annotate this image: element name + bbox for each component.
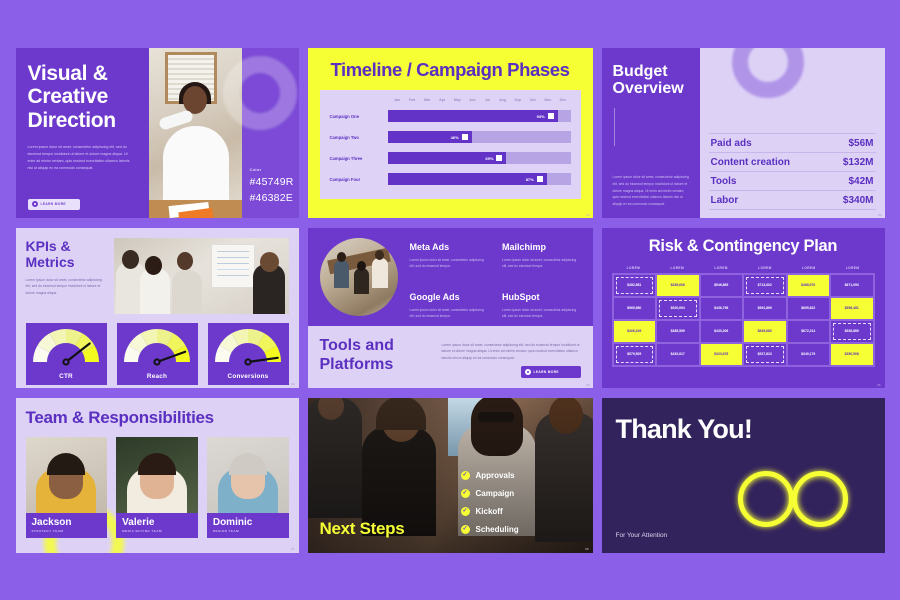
risk-cell[interactable]: $385,599 bbox=[656, 320, 700, 343]
risk-cell[interactable]: $382,981 bbox=[613, 274, 657, 297]
slide5-bottom-section: Tools and Platforms Lorem ipsum dolor si… bbox=[308, 326, 593, 388]
kpi-label: CTR bbox=[59, 373, 73, 380]
slide6-title: Risk & Contingency Plan bbox=[612, 237, 875, 256]
tool-item[interactable]: Mailchimp Lorem ipsum dolor sit amet, co… bbox=[502, 242, 581, 276]
bar-value-label: 46% bbox=[451, 135, 459, 140]
color-value-2: #46382E bbox=[250, 192, 294, 204]
tool-name: Meta Ads bbox=[410, 242, 489, 252]
campaign-label: Campaign One bbox=[324, 114, 388, 119]
drag-handle[interactable] bbox=[496, 155, 502, 161]
timeline-month-axis: JanFebMarAprMayJunJulAugSepOctNovDec bbox=[390, 98, 571, 102]
risk-cell[interactable]: $406,249 bbox=[613, 320, 657, 343]
person-head-decor bbox=[177, 252, 193, 270]
slide4-title: KPIs & Metrics bbox=[26, 238, 104, 270]
slide-risk-contingency-plan[interactable]: Risk & Contingency Plan LOREMLOREMLOREML… bbox=[602, 228, 885, 388]
slide9-subtitle: For Your Attention bbox=[616, 532, 668, 539]
risk-cell[interactable]: $579,505 bbox=[613, 343, 657, 366]
month-tick: Jan bbox=[390, 98, 405, 102]
risk-cell[interactable]: $965,980 bbox=[613, 297, 657, 320]
bar-value-label: 65% bbox=[485, 156, 493, 161]
kpi-label: Reach bbox=[147, 373, 167, 380]
month-tick: Apr bbox=[435, 98, 450, 102]
slide1-color-swatches: Color #45749R #46382E bbox=[250, 167, 294, 204]
timeline-row: Campaign Four 87% bbox=[324, 171, 571, 188]
month-tick: Sep bbox=[510, 98, 525, 102]
next-step-item[interactable]: ✓ Approvals bbox=[461, 471, 583, 480]
budget-row: Tools $42M bbox=[709, 171, 876, 190]
timeline-track: 93% bbox=[388, 110, 571, 122]
month-tick: Aug bbox=[495, 98, 510, 102]
gauge-icon bbox=[210, 328, 286, 373]
budget-table: Paid ads $56M Content creation $132M Too… bbox=[709, 133, 876, 210]
member-name: Jackson bbox=[32, 517, 102, 528]
risk-cell[interactable]: $527,823 bbox=[743, 343, 787, 366]
month-tick: Feb bbox=[405, 98, 420, 102]
timeline-bar[interactable]: 87% bbox=[388, 173, 547, 185]
ring-left-icon bbox=[738, 471, 794, 527]
risk-table-body: $382,981$289,606$546,865$713,602$468,970… bbox=[612, 273, 875, 367]
risk-cell[interactable]: $436,798 bbox=[700, 297, 744, 320]
month-tick: Jun bbox=[465, 98, 480, 102]
campaign-label: Campaign Four bbox=[324, 177, 388, 182]
risk-cell[interactable]: $936,889 bbox=[830, 320, 874, 343]
risk-table-header: LOREMLOREMLOREMLOREMLOREMLOREM bbox=[612, 264, 875, 273]
risk-column-header: LOREM bbox=[743, 264, 787, 273]
member-caption: Dominic DESIGN TEAM bbox=[207, 513, 289, 538]
month-tick: Mar bbox=[420, 98, 435, 102]
check-icon: ✓ bbox=[461, 507, 470, 516]
member-role: STRATEGY TEAM bbox=[32, 529, 102, 533]
slide-timeline-campaign-phases[interactable]: Timeline / Campaign Phases JanFebMarAprM… bbox=[308, 48, 593, 218]
kpi-gauge-cards: CTR Reach Conversions bbox=[26, 323, 289, 385]
budget-row: Labor $340M bbox=[709, 190, 876, 210]
tool-item[interactable]: HubSpot Lorem ipsum dolor sit amet, cons… bbox=[502, 292, 581, 326]
plus-circle-icon bbox=[32, 201, 38, 207]
next-step-label: Scheduling bbox=[476, 525, 519, 534]
risk-cell[interactable]: $323,678 bbox=[700, 343, 744, 366]
timeline-row: Campaign One 93% bbox=[324, 108, 571, 125]
slide1-body-text: Lorem ipsum dolor sit amet, consectetur … bbox=[28, 144, 130, 171]
person-head-decor bbox=[183, 86, 207, 114]
slide8-title: Next Steps bbox=[320, 519, 405, 539]
person-head-decor bbox=[122, 250, 139, 269]
risk-cell[interactable]: $956,481 bbox=[830, 297, 874, 320]
tool-description: Lorem ipsum dolor sit amet, consectetur … bbox=[410, 307, 489, 320]
slide1-right-panel: Color #45749R #46382E bbox=[242, 48, 299, 218]
next-step-label: Kickoff bbox=[476, 507, 503, 516]
slide4-photo bbox=[114, 238, 289, 314]
month-tick: Oct bbox=[525, 98, 540, 102]
team-member-card[interactable]: Jackson STRATEGY TEAM bbox=[26, 437, 108, 538]
tool-item[interactable]: Meta Ads Lorem ipsum dolor sit amet, con… bbox=[410, 242, 489, 276]
risk-cell[interactable]: $713,602 bbox=[743, 274, 787, 297]
risk-cell[interactable]: $695,822 bbox=[787, 297, 831, 320]
slide5-top-section: Meta Ads Lorem ipsum dolor sit amet, con… bbox=[308, 228, 593, 326]
slide-thank-you[interactable]: Thank You! For Your Attention bbox=[602, 398, 885, 553]
page-number: 04 bbox=[291, 382, 294, 386]
month-tick: Nov bbox=[540, 98, 555, 102]
risk-column-header: LOREM bbox=[655, 264, 699, 273]
risk-cell[interactable]: $991,869 bbox=[743, 297, 787, 320]
learn-more-label: LEARN MORE bbox=[41, 202, 66, 206]
timeline-bars: Campaign One 93% Campaign Two 46% Campai… bbox=[324, 108, 571, 188]
slide5-circular-photo bbox=[320, 238, 398, 316]
budget-item-amount: $340M bbox=[843, 195, 874, 206]
page-number: 06 bbox=[877, 383, 880, 387]
slide-deck: Visual & Creative Direction Lorem ipsum … bbox=[0, 0, 900, 600]
slide4-header-row: KPIs & Metrics Lorem ipsum dolor sit ame… bbox=[26, 238, 289, 314]
month-tick: Jul bbox=[480, 98, 495, 102]
plus-circle-icon bbox=[525, 369, 531, 375]
drag-handle[interactable] bbox=[462, 134, 468, 140]
risk-cell[interactable]: $845,680 bbox=[743, 320, 787, 343]
next-step-label: Approvals bbox=[476, 471, 515, 480]
campaign-label: Campaign Two bbox=[324, 135, 388, 140]
kpi-card[interactable]: Conversions bbox=[208, 323, 289, 385]
budget-item-name: Content creation bbox=[711, 157, 790, 168]
budget-row: Content creation $132M bbox=[709, 152, 876, 171]
budget-row: Paid ads $56M bbox=[709, 133, 876, 152]
risk-column-header: LOREM bbox=[612, 264, 656, 273]
learn-more-button[interactable]: LEARN MORE bbox=[28, 199, 80, 210]
tools-grid: Meta Ads Lorem ipsum dolor sit amet, con… bbox=[410, 238, 581, 326]
person-head-decor bbox=[260, 252, 279, 272]
slide4-body-text: Lorem ipsum dolor sit amet, consectetur … bbox=[26, 277, 104, 297]
next-step-item[interactable]: ✓ Campaign bbox=[461, 489, 583, 498]
risk-cell[interactable]: $671,093 bbox=[830, 274, 874, 297]
next-steps-list: ✓ Approvals ✓ Campaign ✓ Kickoff ✓ Sched… bbox=[461, 471, 583, 543]
timeline-track: 87% bbox=[388, 173, 571, 185]
slide7-title: Team & Responsibilities bbox=[26, 408, 289, 428]
slide-next-steps[interactable]: Next Steps ✓ Approvals ✓ Campaign ✓ Kick… bbox=[308, 398, 593, 553]
learn-more-button[interactable]: LEARN MORE bbox=[521, 366, 581, 378]
member-caption: Jackson STRATEGY TEAM bbox=[26, 513, 108, 538]
slide3-title: Budget Overview bbox=[613, 63, 690, 99]
tool-description: Lorem ipsum dolor sit amet, consectetur … bbox=[502, 257, 581, 270]
timeline-row: Campaign Two 46% bbox=[324, 129, 571, 146]
tool-name: Google Ads bbox=[410, 292, 489, 302]
month-tick: May bbox=[450, 98, 465, 102]
slide3-body-text: Lorem ipsum dolor sit amet, consectetur … bbox=[613, 174, 690, 207]
budget-item-name: Paid ads bbox=[711, 138, 752, 149]
member-role: MEDIA BUYING TEAM bbox=[122, 529, 192, 533]
slide-visual-creative-direction[interactable]: Visual & Creative Direction Lorem ipsum … bbox=[16, 48, 299, 218]
color-value-1: #45749R bbox=[250, 176, 294, 188]
slide1-left-panel: Visual & Creative Direction Lorem ipsum … bbox=[16, 48, 149, 218]
timeline-chart: JanFebMarAprMayJunJulAugSepOctNovDec Cam… bbox=[320, 90, 581, 199]
slide4-text-block: KPIs & Metrics Lorem ipsum dolor sit ame… bbox=[26, 238, 104, 314]
member-caption: Valerie MEDIA BUYING TEAM bbox=[116, 513, 198, 538]
check-icon: ✓ bbox=[461, 489, 470, 498]
kpi-card[interactable]: Reach bbox=[117, 323, 198, 385]
drag-handle[interactable] bbox=[548, 113, 554, 119]
page-number: 05 bbox=[586, 383, 589, 387]
budget-item-name: Tools bbox=[711, 176, 737, 187]
risk-cell[interactable]: $289,606 bbox=[656, 274, 700, 297]
campaign-label: Campaign Three bbox=[324, 156, 388, 161]
ring-right-icon bbox=[792, 471, 848, 527]
check-icon: ✓ bbox=[461, 525, 470, 534]
risk-column-header: LOREM bbox=[831, 264, 875, 273]
slide3-right-panel: Paid ads $56M Content creation $132M Too… bbox=[700, 48, 885, 218]
timeline-bar[interactable]: 93% bbox=[388, 110, 558, 122]
page-number: 07 bbox=[291, 547, 294, 551]
budget-item-amount: $132M bbox=[843, 157, 874, 168]
whiteboard-decor bbox=[211, 244, 255, 288]
risk-cell[interactable]: $920,694 bbox=[656, 297, 700, 320]
check-icon: ✓ bbox=[461, 471, 470, 480]
person-head-decor bbox=[145, 256, 162, 275]
member-name: Valerie bbox=[122, 517, 192, 528]
risk-cell[interactable]: $350,508 bbox=[830, 343, 874, 366]
budget-item-amount: $56M bbox=[848, 138, 873, 149]
kpi-label: Conversions bbox=[228, 373, 269, 380]
next-step-item[interactable]: ✓ Scheduling bbox=[461, 525, 583, 534]
learn-more-label: LEARN MORE bbox=[534, 370, 559, 374]
tool-item[interactable]: Google Ads Lorem ipsum dolor sit amet, c… bbox=[410, 292, 489, 326]
member-name: Dominic bbox=[213, 517, 283, 528]
member-role: DESIGN TEAM bbox=[213, 529, 283, 533]
timeline-bar[interactable]: 46% bbox=[388, 131, 472, 143]
slide-tools-and-platforms[interactable]: Meta Ads Lorem ipsum dolor sit amet, con… bbox=[308, 228, 593, 388]
ring-decor-icon bbox=[732, 48, 804, 98]
tool-name: HubSpot bbox=[502, 292, 581, 302]
slide9-title: Thank You! bbox=[616, 414, 753, 445]
tool-description: Lorem ipsum dolor sit amet, consectetur … bbox=[410, 257, 489, 270]
kpi-card[interactable]: CTR bbox=[26, 323, 107, 385]
risk-cell[interactable]: $452,617 bbox=[656, 343, 700, 366]
slide2-title: Timeline / Campaign Phases bbox=[320, 59, 581, 81]
slide1-title: Visual & Creative Direction bbox=[28, 62, 139, 133]
divider bbox=[614, 108, 615, 146]
team-member-card[interactable]: Valerie MEDIA BUYING TEAM bbox=[116, 437, 198, 538]
risk-cell[interactable]: $546,865 bbox=[700, 274, 744, 297]
timeline-track: 46% bbox=[388, 131, 571, 143]
risk-table: LOREMLOREMLOREMLOREMLOREMLOREM $382,981$… bbox=[612, 264, 875, 367]
risk-cell[interactable]: $349,179 bbox=[787, 343, 831, 366]
drag-handle[interactable] bbox=[537, 176, 543, 182]
bar-value-label: 93% bbox=[537, 114, 545, 119]
month-tick: Dec bbox=[555, 98, 570, 102]
ring-decor-icon bbox=[223, 56, 297, 130]
gauge-icon bbox=[119, 328, 195, 373]
slide3-left-panel: Budget Overview Lorem ipsum dolor sit am… bbox=[602, 48, 700, 218]
budget-item-amount: $42M bbox=[848, 176, 873, 187]
timeline-track: 65% bbox=[388, 152, 571, 164]
risk-column-header: LOREM bbox=[699, 264, 743, 273]
next-step-label: Campaign bbox=[476, 489, 515, 498]
page-number: 08 bbox=[585, 547, 588, 551]
risk-cell[interactable]: $672,214 bbox=[787, 320, 831, 343]
tool-description: Lorem ipsum dolor sit amet, consectetur … bbox=[502, 307, 581, 320]
slide-budget-overview[interactable]: Budget Overview Lorem ipsum dolor sit am… bbox=[602, 48, 885, 218]
person-decor bbox=[172, 270, 202, 314]
slide-team-responsibilities[interactable]: Team & Responsibilities Jackson STRATEGY… bbox=[16, 398, 299, 553]
timeline-row: Campaign Three 65% bbox=[324, 150, 571, 167]
next-step-item[interactable]: ✓ Kickoff bbox=[461, 507, 583, 516]
color-label: Color bbox=[250, 167, 294, 172]
budget-item-name: Labor bbox=[711, 195, 739, 206]
gauge-icon bbox=[28, 328, 104, 373]
team-member-cards: Jackson STRATEGY TEAM Valerie MEDIA BUYI… bbox=[26, 437, 289, 538]
bar-value-label: 87% bbox=[526, 177, 534, 182]
timeline-bar[interactable]: 65% bbox=[388, 152, 507, 164]
slide-kpis-metrics[interactable]: KPIs & Metrics Lorem ipsum dolor sit ame… bbox=[16, 228, 299, 388]
team-member-card[interactable]: Dominic DESIGN TEAM bbox=[207, 437, 289, 538]
page-number: 02 bbox=[586, 213, 589, 217]
risk-column-header: LOREM bbox=[787, 264, 831, 273]
page-number: 03 bbox=[878, 213, 881, 217]
risk-cell[interactable]: $430,206 bbox=[700, 320, 744, 343]
slide5-title: Tools and Platforms bbox=[320, 336, 428, 382]
risk-cell[interactable]: $468,970 bbox=[787, 274, 831, 297]
tool-name: Mailchimp bbox=[502, 242, 581, 252]
